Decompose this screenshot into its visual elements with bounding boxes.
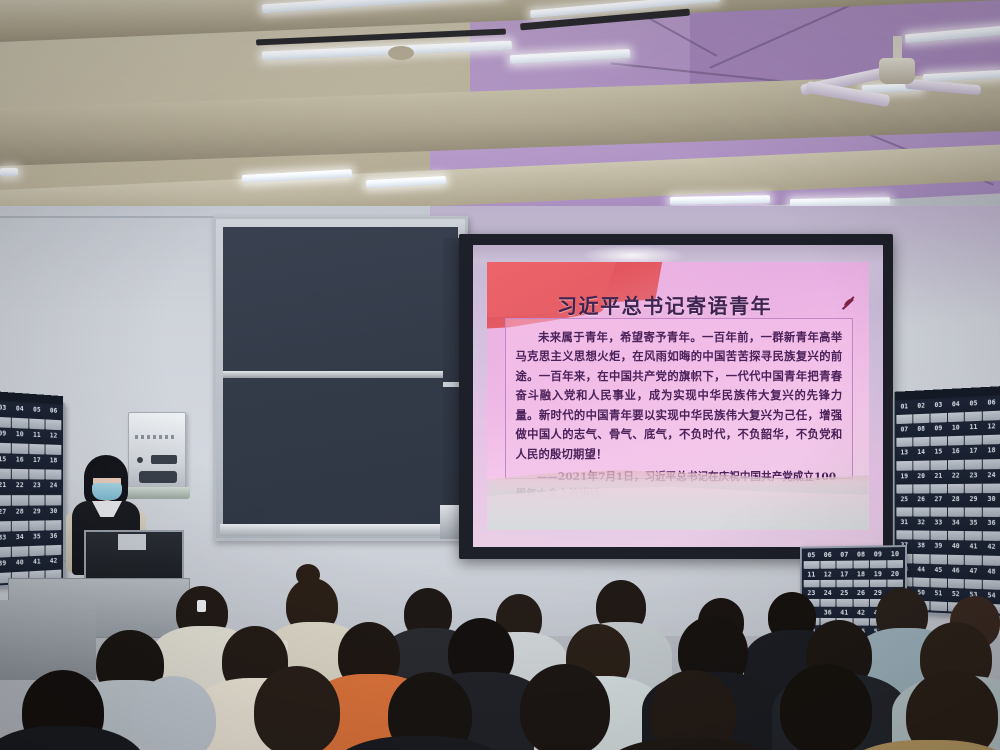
face-mask-icon <box>92 483 122 500</box>
pocket-slot[interactable]: 35 <box>965 518 982 541</box>
pocket-slot[interactable]: 29 <box>965 494 982 517</box>
ceiling-fan-icon <box>879 58 915 84</box>
pocket-slot[interactable]: 07 <box>896 425 912 448</box>
pocket-slot[interactable]: 22 <box>12 481 28 506</box>
pocket-slot[interactable]: 21 <box>930 471 946 494</box>
pocket-slot[interactable]: 23 <box>965 470 982 493</box>
projected-image: 习近平总书记寄语青年 未来属于青年，希望寄予青年。一百年前，一群新青年高举马克思… <box>473 245 883 547</box>
pocket-slot[interactable]: 03 <box>930 400 946 423</box>
pocket-slot[interactable]: 30 <box>46 506 62 530</box>
pocket-slot[interactable]: 09 <box>0 428 11 454</box>
pocket-slot[interactable]: 31 <box>896 518 912 540</box>
pocket-slot[interactable]: 10 <box>12 429 28 454</box>
pocket-slot[interactable]: 03 <box>0 402 11 428</box>
audience-area <box>0 560 1000 750</box>
pocket-slot[interactable]: 09 <box>930 423 946 446</box>
pocket-slot[interactable]: 34 <box>947 518 964 541</box>
pocket-slot[interactable]: 04 <box>12 403 28 429</box>
pocket-slot[interactable]: 20 <box>913 471 929 494</box>
audience-head <box>906 670 998 750</box>
pocket-slot[interactable]: 11 <box>965 422 982 445</box>
pocket-slot[interactable]: 12 <box>46 431 62 456</box>
pocket-slot[interactable]: 05 <box>965 398 982 422</box>
pocket-slot[interactable]: 24 <box>46 481 62 505</box>
pocket-slot[interactable]: 04 <box>947 399 964 422</box>
pocket-slot[interactable]: 36 <box>46 531 62 556</box>
pocket-slot[interactable]: 35 <box>29 531 45 556</box>
slide-title: 习近平总书记寄语青年 <box>487 290 842 319</box>
presenter-fringe <box>90 464 124 478</box>
audience-head <box>254 666 340 750</box>
lecture-hall-photo: 习近平总书记寄语青年 未来属于青年，希望寄予青年。一百年前，一群新青年高举马克思… <box>0 0 1000 750</box>
pocket-slot[interactable]: 21 <box>0 480 11 505</box>
pocket-slot[interactable]: 34 <box>12 532 28 557</box>
blackboard-divider <box>223 371 458 378</box>
chalk-tray <box>220 524 461 536</box>
pocket-slot[interactable]: 32 <box>913 518 929 541</box>
pocket-slot[interactable]: 11 <box>29 430 45 455</box>
pocket-slot[interactable]: 15 <box>0 454 11 479</box>
pocket-slot[interactable]: 08 <box>913 424 929 447</box>
wall-unit-label <box>135 435 177 439</box>
pocket-slot[interactable]: 10 <box>947 423 964 446</box>
wall-unit-display <box>151 455 177 464</box>
hair-clip <box>197 600 206 612</box>
pocket-slot[interactable]: 06 <box>46 405 62 430</box>
pocket-slot[interactable]: 02 <box>913 401 929 424</box>
pocket-slot[interactable]: 33 <box>930 518 946 541</box>
pocket-slot[interactable]: 16 <box>12 455 28 480</box>
pocket-slot[interactable]: 14 <box>913 447 929 470</box>
projection-screen: 习近平总书记寄语青年 未来属于青年，希望寄予青年。一百年前，一群新青年高举马克思… <box>459 234 893 559</box>
slide-body-box: 未来属于青年，希望寄予青年。一百年前，一群新青年高举马克思主义思想火炬，在风雨如… <box>505 318 854 479</box>
blackboard <box>213 216 468 541</box>
sprinkler-icon <box>388 46 414 60</box>
pocket-slot[interactable]: 05 <box>29 404 45 429</box>
pocket-slot[interactable]: 17 <box>29 455 45 480</box>
pocket-slot[interactable]: 17 <box>965 446 982 469</box>
audience-head <box>520 664 610 750</box>
pocket-slot[interactable]: 25 <box>896 494 912 516</box>
powerpoint-slide: 习近平总书记寄语青年 未来属于青年，希望寄予青年。一百年前，一群新青年高举马克思… <box>487 262 868 531</box>
pocket-slot[interactable]: 29 <box>29 506 45 531</box>
pocket-slot[interactable]: 13 <box>896 448 912 471</box>
pocket-slot[interactable]: 12 <box>983 421 1000 445</box>
pocket-slot[interactable]: 28 <box>947 494 964 517</box>
pocket-slot[interactable]: 33 <box>0 532 11 558</box>
pocket-slot[interactable]: 18 <box>983 446 1000 469</box>
pocket-slot[interactable]: 18 <box>46 456 62 480</box>
pocket-slot[interactable]: 01 <box>896 401 912 424</box>
fluorescent-tube-icon <box>0 168 18 176</box>
pocket-slot[interactable]: 30 <box>983 494 1000 517</box>
wall-unit-button-row[interactable] <box>139 471 177 483</box>
pocket-slot[interactable]: 19 <box>896 471 912 493</box>
pocket-slot[interactable]: 22 <box>947 470 964 493</box>
pocket-slot[interactable]: 24 <box>983 470 1000 493</box>
pocket-slot[interactable]: 16 <box>947 447 964 470</box>
pocket-slot[interactable]: 36 <box>983 518 1000 541</box>
pocket-slot[interactable]: 27 <box>930 494 946 517</box>
pocket-slot[interactable]: 06 <box>983 397 1000 421</box>
pocket-slot[interactable]: 27 <box>0 506 11 531</box>
pocket-slot[interactable]: 28 <box>12 506 28 531</box>
audience-head <box>780 664 872 750</box>
wall-trim <box>0 216 215 218</box>
hammer-and-sickle-icon <box>839 295 856 312</box>
monitor-stand <box>118 534 146 550</box>
pocket-slot[interactable]: 15 <box>930 447 946 470</box>
pocket-slot[interactable]: 26 <box>913 494 929 516</box>
audience-hair-bun <box>296 564 320 586</box>
slide-body-text: 未来属于青年，希望寄予青年。一百年前，一群新青年高举马克思主义思想火炬，在风雨如… <box>516 328 843 464</box>
pocket-slot[interactable]: 23 <box>29 481 45 505</box>
